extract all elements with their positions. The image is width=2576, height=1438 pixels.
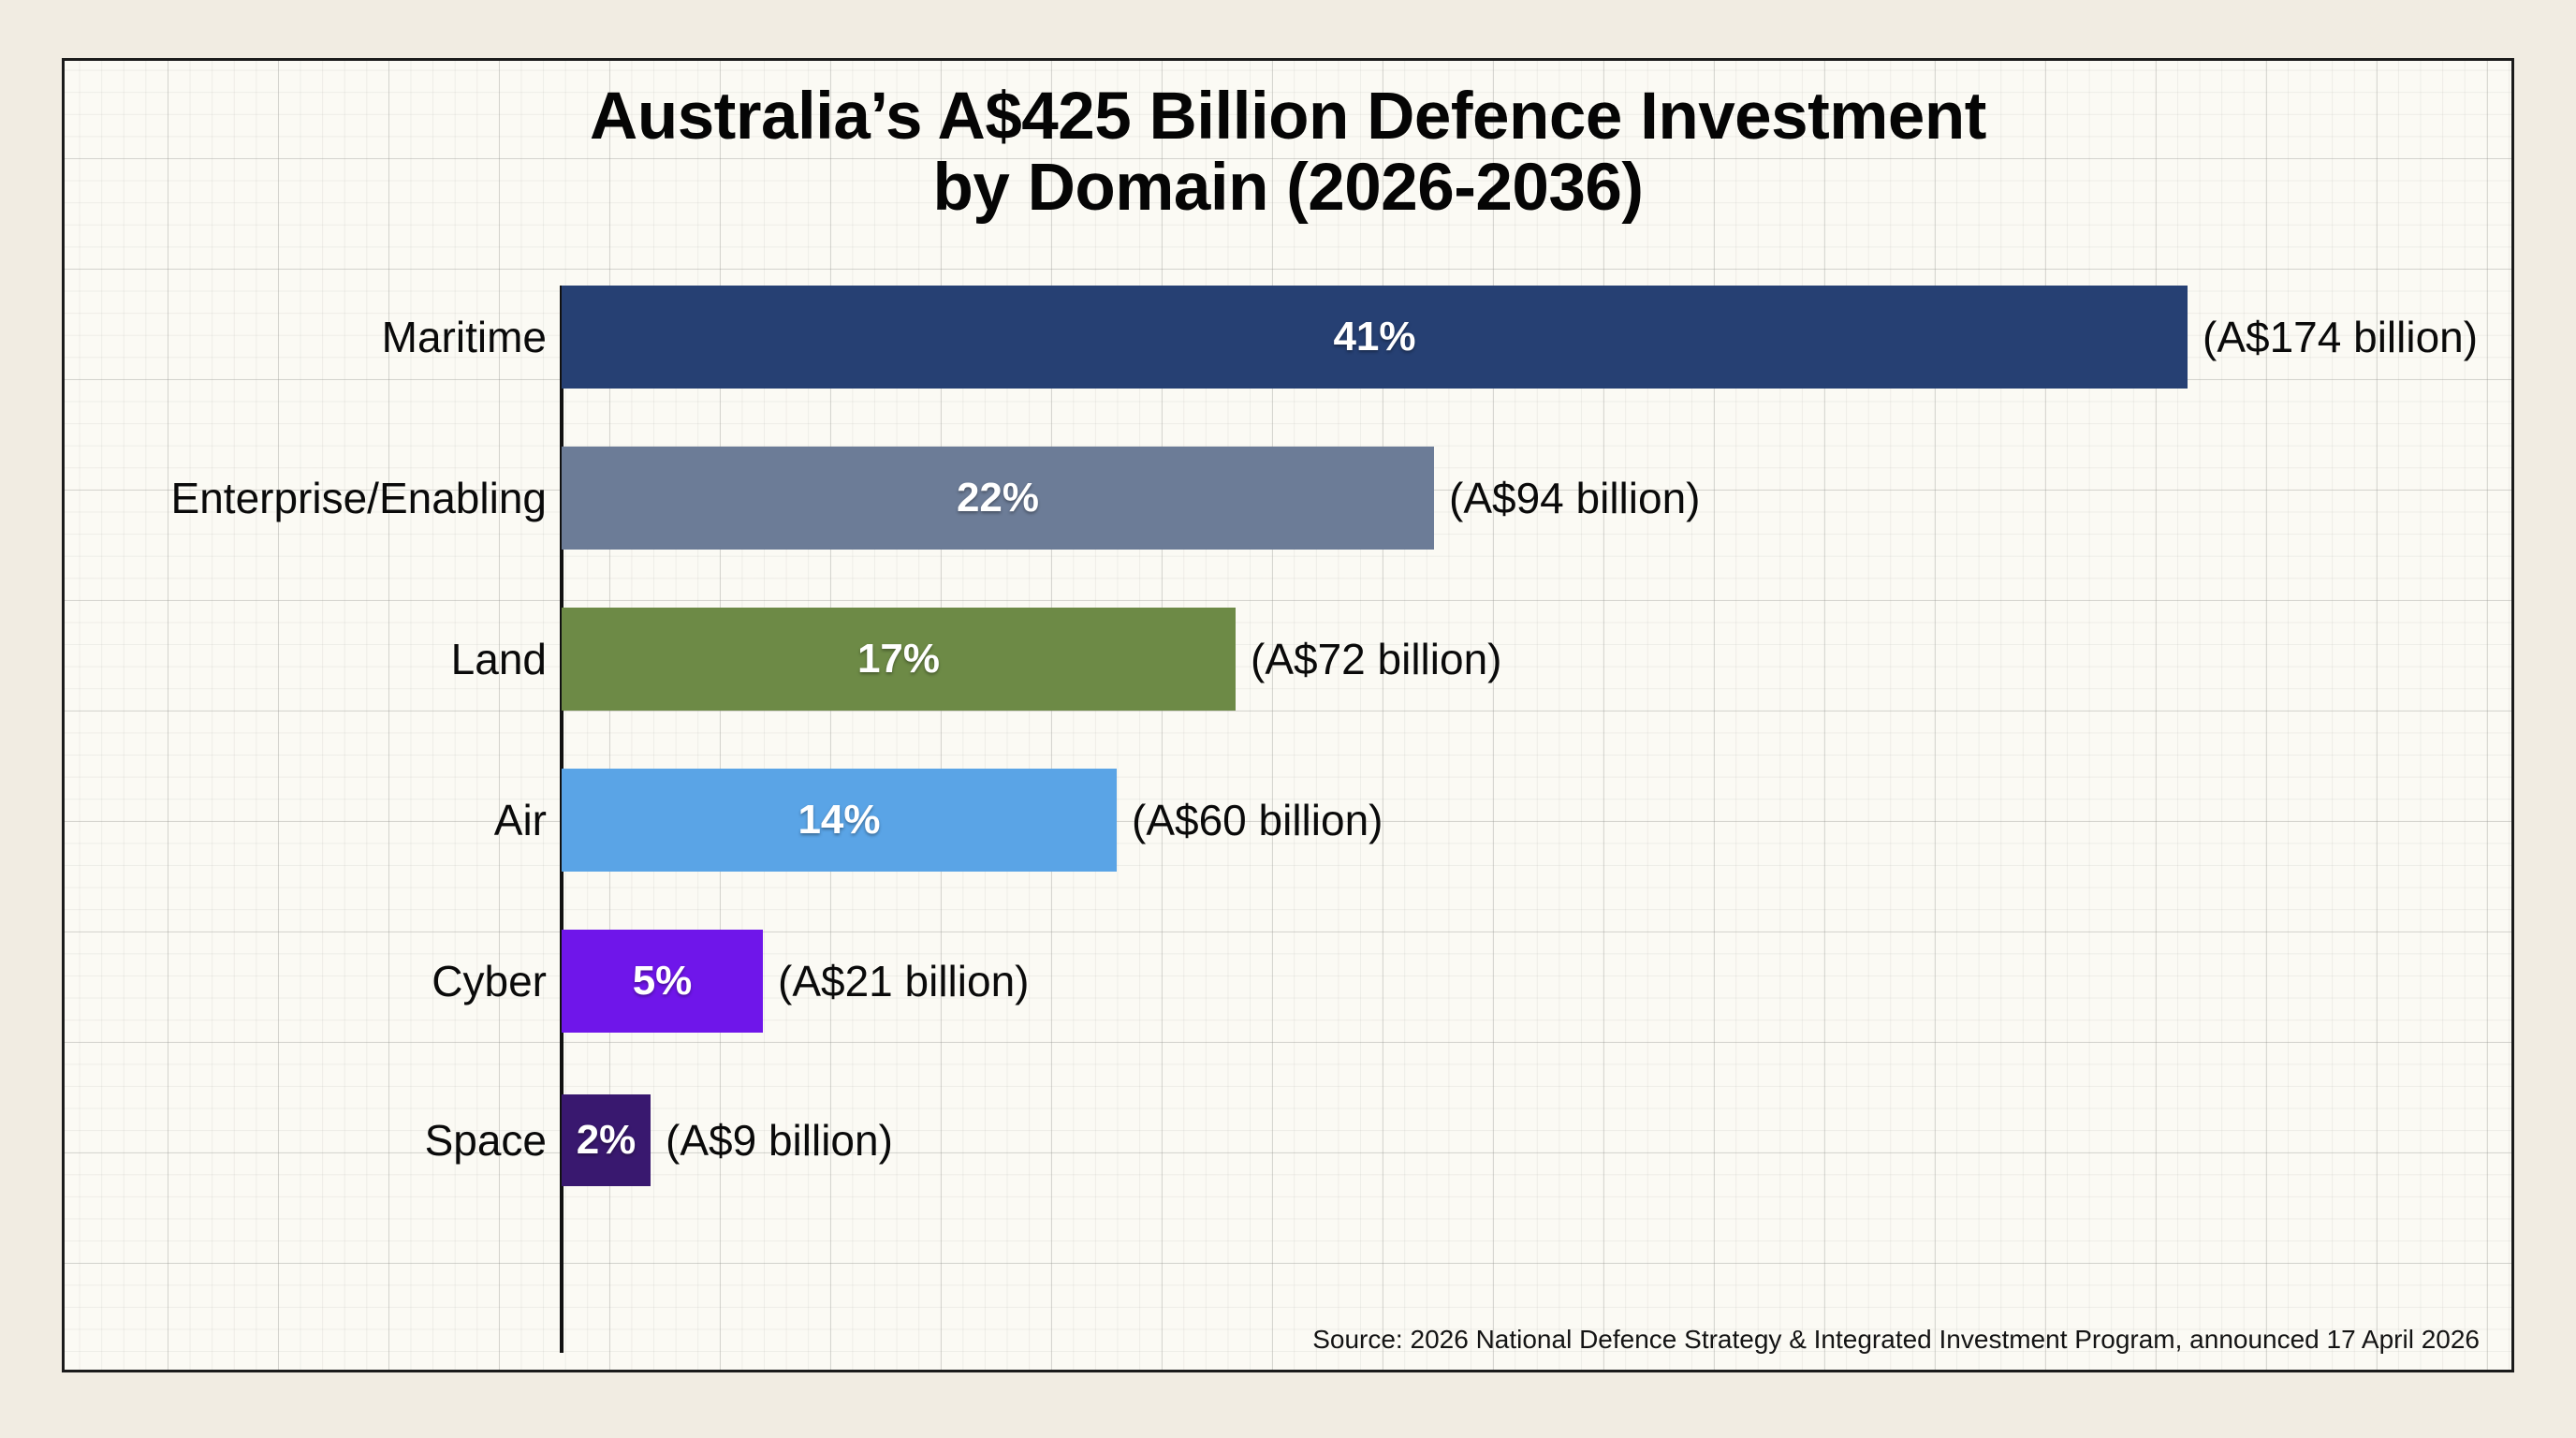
bar-percent-label: 5%	[633, 958, 693, 1005]
bar[interactable]: 17%	[562, 608, 1236, 711]
category-label: Space	[65, 1094, 547, 1186]
bar-percent-label: 14%	[798, 797, 880, 844]
bar-row: Enterprise/Enabling22%(A$94 billion)	[65, 447, 2511, 550]
bar-row: Land17%(A$72 billion)	[65, 608, 2511, 711]
chart-panel: Australia’s A$425 Billion Defence Invest…	[62, 58, 2514, 1372]
category-label: Air	[65, 769, 547, 872]
bar[interactable]: 5%	[562, 930, 763, 1033]
bar-percent-label: 2%	[577, 1117, 637, 1164]
bar-row: Space2%(A$9 billion)	[65, 1094, 2511, 1186]
bar-row: Air14%(A$60 billion)	[65, 769, 2511, 872]
bar-percent-label: 22%	[957, 475, 1039, 521]
source-note: Source: 2026 National Defence Strategy &…	[1312, 1325, 2480, 1355]
bar-amount-label: (A$94 billion)	[1449, 447, 1700, 550]
bar-row: Cyber5%(A$21 billion)	[65, 930, 2511, 1033]
chart-canvas: Australia’s A$425 Billion Defence Invest…	[0, 0, 2576, 1438]
bar[interactable]: 41%	[562, 286, 2188, 389]
bar[interactable]: 22%	[562, 447, 1434, 550]
plot-area: Maritime41%(A$174 billion)Enterprise/Ena…	[65, 61, 2511, 1370]
category-label: Maritime	[65, 286, 547, 389]
bar-amount-label: (A$174 billion)	[2203, 286, 2478, 389]
bar[interactable]: 2%	[562, 1094, 651, 1186]
bar-amount-label: (A$60 billion)	[1132, 769, 1383, 872]
bar-percent-label: 17%	[857, 636, 940, 682]
bar-amount-label: (A$72 billion)	[1251, 608, 1501, 711]
bar-amount-label: (A$9 billion)	[666, 1094, 893, 1186]
category-label: Cyber	[65, 930, 547, 1033]
bar-percent-label: 41%	[1333, 314, 1415, 360]
bar-amount-label: (A$21 billion)	[778, 930, 1029, 1033]
bar-row: Maritime41%(A$174 billion)	[65, 286, 2511, 389]
category-label: Enterprise/Enabling	[65, 447, 547, 550]
category-label: Land	[65, 608, 547, 711]
bar[interactable]: 14%	[562, 769, 1117, 872]
